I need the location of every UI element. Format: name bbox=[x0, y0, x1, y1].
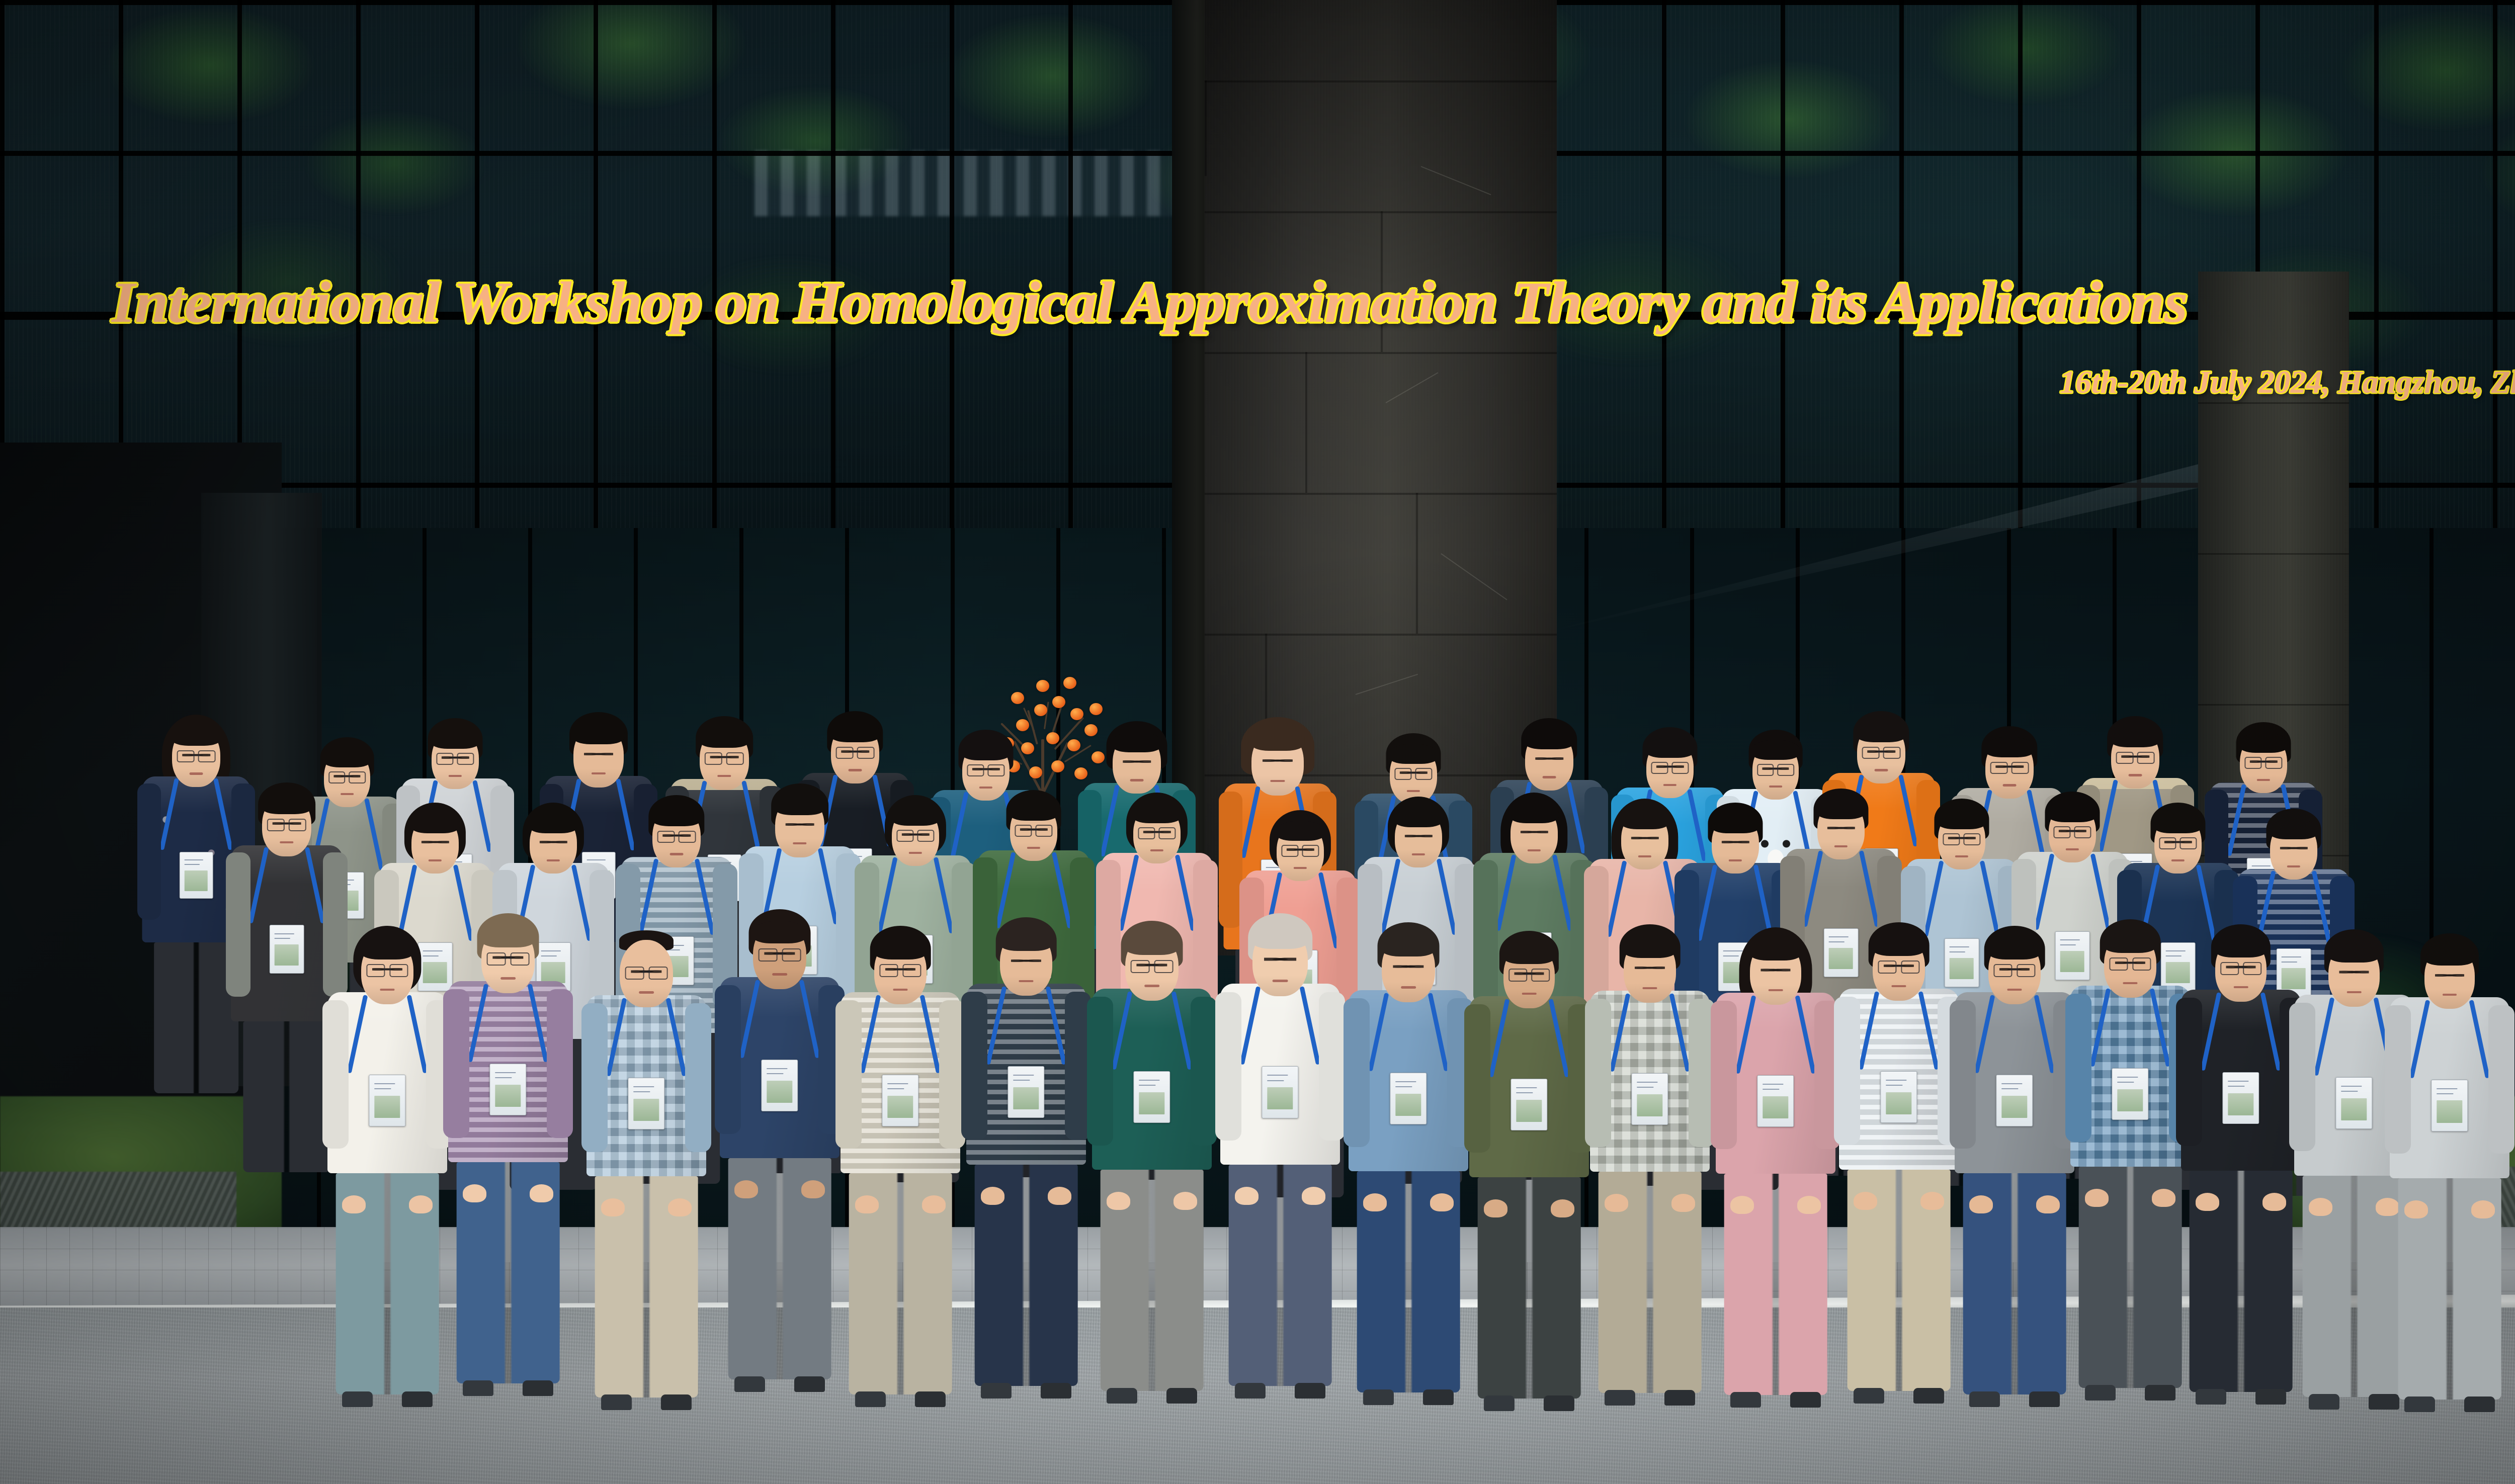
hair-fringe bbox=[2103, 930, 2157, 953]
arm-r bbox=[685, 1003, 711, 1152]
name-badge bbox=[1390, 1073, 1427, 1124]
hand-l bbox=[1235, 1187, 1259, 1205]
mouth bbox=[2066, 848, 2079, 850]
hand-r bbox=[801, 1180, 825, 1198]
hand-r bbox=[922, 1195, 946, 1213]
name-badge bbox=[180, 852, 213, 899]
shoe-r bbox=[2464, 1396, 2495, 1412]
mouth bbox=[2007, 989, 2022, 991]
mouth bbox=[280, 841, 293, 843]
eyes bbox=[1263, 759, 1293, 763]
mouth bbox=[547, 859, 560, 861]
lanyard bbox=[622, 998, 670, 1078]
arm-l bbox=[1585, 999, 1611, 1147]
glasses bbox=[1651, 762, 1689, 772]
hair-fringe bbox=[1251, 925, 1309, 948]
eyes bbox=[786, 823, 814, 826]
arm-l bbox=[581, 1003, 608, 1152]
eyes bbox=[422, 840, 449, 844]
arm-r bbox=[547, 989, 573, 1138]
hair-fringe bbox=[431, 729, 480, 749]
eyes bbox=[2280, 846, 2308, 850]
mouth bbox=[2171, 859, 2185, 861]
hand-l bbox=[1484, 1199, 1508, 1217]
hand-r bbox=[2471, 1200, 2495, 1218]
hand-r bbox=[668, 1198, 692, 1216]
name-badge bbox=[1133, 1071, 1170, 1123]
arm-r bbox=[1191, 997, 1217, 1145]
person bbox=[841, 928, 960, 1380]
lanyard bbox=[2106, 989, 2154, 1068]
name-badge bbox=[2335, 1077, 2372, 1129]
glasses bbox=[177, 750, 216, 761]
lanyard bbox=[2425, 1000, 2473, 1080]
shoe-r bbox=[402, 1391, 433, 1407]
lanyard bbox=[2330, 998, 2378, 1077]
arm-l bbox=[961, 992, 987, 1140]
name-badge bbox=[489, 1064, 526, 1115]
mouth bbox=[1401, 986, 1416, 989]
eyes bbox=[1123, 760, 1151, 763]
lanyard bbox=[175, 778, 218, 851]
shoe-r bbox=[1423, 1389, 1454, 1405]
mouth bbox=[1144, 985, 1159, 987]
arm-l bbox=[1087, 997, 1113, 1145]
mouth bbox=[1528, 849, 1541, 851]
arm-l bbox=[443, 989, 469, 1138]
shoe-l bbox=[1107, 1388, 1138, 1404]
shoe-l bbox=[463, 1380, 494, 1396]
mouth bbox=[1270, 780, 1285, 782]
eyes bbox=[1521, 830, 1548, 834]
hair-fringe bbox=[1749, 938, 1802, 961]
hair-fringe bbox=[2214, 935, 2268, 957]
person bbox=[448, 915, 568, 1368]
hand-l bbox=[1730, 1196, 1754, 1214]
shoe-r bbox=[2029, 1391, 2060, 1407]
shoe-r bbox=[1913, 1388, 1945, 1404]
shoe-l bbox=[734, 1376, 766, 1392]
eyes bbox=[1635, 966, 1665, 970]
arm-l bbox=[2065, 994, 2091, 1142]
hair-fringe bbox=[1394, 807, 1443, 827]
mouth bbox=[1769, 785, 1782, 788]
hand-r bbox=[409, 1195, 433, 1213]
hair-fringe bbox=[1856, 722, 1906, 742]
lanyard bbox=[654, 859, 699, 936]
shoe-r bbox=[1544, 1395, 1575, 1411]
mouth bbox=[849, 769, 862, 771]
mouth bbox=[2257, 779, 2270, 781]
hair-fringe bbox=[1987, 937, 2042, 959]
lanyard bbox=[363, 995, 411, 1075]
hair-fringe bbox=[360, 937, 414, 959]
lanyard bbox=[1819, 851, 1864, 928]
mouth bbox=[772, 973, 787, 976]
mouth bbox=[670, 853, 684, 855]
lanyard bbox=[1128, 992, 1176, 1071]
hair-fringe bbox=[261, 793, 312, 814]
person bbox=[1839, 924, 1959, 1377]
workshop-title: International Workshop on Homological Ap… bbox=[112, 272, 2188, 334]
shoe-r bbox=[1664, 1390, 1696, 1406]
shoe-l bbox=[1605, 1390, 1636, 1406]
hair-fringe bbox=[2239, 733, 2288, 753]
hand-l bbox=[2085, 1189, 2109, 1207]
hand-l bbox=[2404, 1200, 2428, 1218]
mouth bbox=[1027, 847, 1040, 849]
shoe-l bbox=[342, 1391, 373, 1407]
shoe-l bbox=[2309, 1394, 2340, 1410]
glasses bbox=[1757, 764, 1794, 774]
name-badge bbox=[2431, 1080, 2468, 1131]
mouth bbox=[429, 859, 442, 861]
hand-r bbox=[1671, 1194, 1696, 1212]
lanyard bbox=[893, 857, 938, 935]
lanyard bbox=[876, 995, 924, 1075]
mouth bbox=[1273, 980, 1288, 982]
glasses bbox=[1993, 964, 2035, 975]
shoe-l bbox=[2196, 1389, 2227, 1405]
hand-l bbox=[342, 1195, 366, 1213]
mouth bbox=[2003, 784, 2017, 786]
hair-fringe bbox=[873, 937, 928, 959]
name-badge bbox=[2112, 1068, 2148, 1120]
mouth bbox=[449, 775, 462, 777]
hair-fringe bbox=[1132, 803, 1182, 823]
hand-l bbox=[855, 1195, 879, 1213]
shoe-r bbox=[794, 1376, 825, 1392]
person bbox=[1092, 923, 1212, 1375]
hand-r bbox=[1920, 1192, 1945, 1210]
eyes bbox=[1760, 968, 1790, 972]
name-badge bbox=[1996, 1075, 2033, 1126]
name-badge bbox=[270, 925, 304, 974]
glasses bbox=[1862, 747, 1901, 757]
name-badge bbox=[1880, 1071, 1917, 1123]
arm-l bbox=[1711, 1001, 1737, 1149]
shoe-r bbox=[1166, 1388, 1198, 1404]
mouth bbox=[1834, 845, 1848, 847]
hair-fringe bbox=[999, 928, 1053, 951]
arm-l bbox=[226, 852, 250, 997]
person bbox=[1955, 928, 2074, 1380]
hair-fringe bbox=[2327, 940, 2381, 963]
hair-fringe bbox=[2153, 813, 2203, 833]
hair-fringe bbox=[1381, 934, 1436, 957]
glasses bbox=[487, 952, 530, 964]
hair-fringe bbox=[891, 806, 940, 826]
mouth bbox=[1875, 769, 1888, 771]
glasses bbox=[1138, 827, 1176, 837]
hand-l bbox=[601, 1198, 625, 1216]
glasses bbox=[436, 753, 474, 763]
hand-l bbox=[2196, 1193, 2220, 1211]
conference-group-photo: International Workshop on Homological Ap… bbox=[0, 0, 2515, 1484]
workshop-subtitle: 16th-20th July 2024, Hangzhou, Zhejiang bbox=[2060, 365, 2515, 400]
hair-fringe bbox=[1816, 799, 1866, 819]
hair-fringe bbox=[1937, 809, 1986, 829]
eyes bbox=[540, 840, 567, 844]
lanyard bbox=[1751, 996, 1799, 1075]
hair-fringe bbox=[1645, 738, 1695, 758]
lanyard bbox=[756, 980, 803, 1060]
person bbox=[720, 911, 840, 1364]
mouth bbox=[380, 989, 394, 991]
lanyard bbox=[1002, 987, 1050, 1066]
glasses bbox=[328, 771, 366, 781]
shoe-l bbox=[981, 1383, 1012, 1399]
name-badge bbox=[882, 1075, 918, 1126]
mouth bbox=[2123, 982, 2137, 985]
shoe-r bbox=[1790, 1392, 1821, 1408]
arm-l bbox=[1344, 998, 1370, 1147]
glasses bbox=[267, 819, 306, 829]
shoe-l bbox=[1363, 1389, 1394, 1405]
name-badge bbox=[1511, 1079, 1547, 1130]
shoe-l bbox=[1854, 1388, 1885, 1404]
eyes bbox=[1722, 840, 1749, 844]
mouth bbox=[2234, 986, 2248, 989]
arm-l bbox=[1950, 1000, 1976, 1149]
hair-fringe bbox=[410, 813, 460, 833]
hair-fringe bbox=[1620, 809, 1669, 829]
glasses bbox=[879, 964, 921, 975]
hair-fringe bbox=[572, 723, 625, 745]
name-badge bbox=[761, 1060, 798, 1111]
shoe-l bbox=[855, 1391, 886, 1407]
glasses bbox=[967, 764, 1004, 774]
hair-fringe bbox=[1711, 813, 1760, 833]
eyes bbox=[1827, 826, 1855, 830]
shoe-r bbox=[915, 1391, 946, 1407]
hair-fringe bbox=[529, 813, 578, 833]
shoe-r bbox=[1295, 1383, 1326, 1399]
glasses bbox=[2220, 962, 2261, 973]
hand-r bbox=[2036, 1195, 2060, 1213]
lanyard bbox=[1512, 855, 1557, 932]
hand-r bbox=[2152, 1189, 2176, 1207]
mouth bbox=[1638, 855, 1651, 857]
glasses bbox=[2159, 837, 2197, 847]
hair-fringe bbox=[171, 725, 221, 746]
glasses bbox=[366, 964, 408, 975]
lanyard bbox=[265, 847, 309, 925]
mouth bbox=[1294, 867, 1307, 869]
glasses bbox=[896, 830, 934, 840]
name-badge bbox=[628, 1078, 664, 1129]
hair-fringe bbox=[961, 740, 1011, 760]
name-badge bbox=[1757, 1075, 1794, 1127]
lanyard bbox=[1256, 987, 1304, 1066]
hair-fringe bbox=[1872, 933, 1926, 956]
glasses bbox=[1878, 961, 1919, 972]
arm-l bbox=[1834, 997, 1860, 1145]
hair-fringe bbox=[2110, 727, 2160, 747]
glasses bbox=[1394, 768, 1432, 778]
hand-l bbox=[1107, 1192, 1131, 1210]
hand-l bbox=[1605, 1194, 1629, 1212]
hair-fringe bbox=[1510, 803, 1559, 823]
hand-l bbox=[2309, 1198, 2333, 1216]
lanyard bbox=[484, 984, 532, 1064]
hand-r bbox=[2262, 1193, 2287, 1211]
glasses bbox=[1015, 825, 1052, 835]
eyes bbox=[1631, 836, 1659, 840]
hair-fringe bbox=[1112, 732, 1162, 752]
mouth bbox=[1522, 993, 1537, 995]
arm-l bbox=[2289, 1003, 2315, 1151]
hair-fringe bbox=[1009, 801, 1058, 821]
glasses bbox=[2116, 752, 2155, 762]
shoe-r bbox=[2255, 1389, 2287, 1405]
mouth bbox=[979, 787, 992, 789]
shoe-l bbox=[1235, 1383, 1266, 1399]
person bbox=[1349, 924, 1468, 1377]
hair-fringe bbox=[830, 722, 880, 742]
glasses bbox=[625, 967, 668, 978]
shoe-r bbox=[523, 1380, 554, 1396]
hair-fringe bbox=[774, 794, 825, 815]
mouth bbox=[717, 775, 731, 777]
name-badge bbox=[2222, 1072, 2259, 1124]
shoe-r bbox=[2145, 1385, 2176, 1401]
person bbox=[1716, 929, 1835, 1382]
name-badge bbox=[1262, 1066, 1298, 1118]
hand-l bbox=[1854, 1192, 1878, 1210]
shoe-l bbox=[2404, 1396, 2436, 1412]
shoe-l bbox=[1969, 1391, 2000, 1407]
lanyard bbox=[1384, 993, 1432, 1073]
hand-l bbox=[1969, 1195, 1993, 1213]
eyes bbox=[1393, 965, 1423, 969]
hair-fringe bbox=[699, 727, 750, 748]
hair-fringe bbox=[1389, 744, 1438, 764]
person bbox=[2070, 921, 2190, 1374]
hair-fringe bbox=[2269, 819, 2318, 839]
arm-l bbox=[2385, 1005, 2411, 1154]
hair-fringe bbox=[1623, 935, 1677, 958]
person bbox=[586, 929, 706, 1382]
arm-r bbox=[2488, 1005, 2514, 1154]
name-badge bbox=[1008, 1066, 1044, 1118]
mouth bbox=[1150, 849, 1163, 851]
glasses bbox=[705, 752, 744, 763]
mouth bbox=[1407, 790, 1420, 792]
lanyard bbox=[1990, 995, 2038, 1075]
hand-r bbox=[1430, 1193, 1454, 1211]
mouth bbox=[1769, 989, 1783, 992]
hair-fringe bbox=[480, 925, 536, 948]
glasses bbox=[2244, 757, 2282, 767]
shoe-l bbox=[1730, 1392, 1762, 1408]
hand-r bbox=[1048, 1187, 1072, 1205]
eyes bbox=[584, 752, 613, 756]
eyes bbox=[1011, 959, 1041, 963]
hand-l bbox=[734, 1180, 759, 1198]
mouth bbox=[500, 977, 516, 980]
name-badge bbox=[369, 1075, 405, 1126]
person bbox=[1469, 933, 1589, 1385]
glasses bbox=[759, 948, 801, 960]
hand-r bbox=[1551, 1199, 1575, 1217]
hair-fringe bbox=[2048, 802, 2097, 822]
eyes bbox=[1405, 834, 1433, 838]
hair-fringe bbox=[1984, 737, 2035, 757]
person bbox=[2390, 935, 2509, 1388]
hair-fringe bbox=[1524, 729, 1574, 749]
eyes bbox=[2339, 970, 2369, 974]
glasses bbox=[2109, 957, 2151, 969]
shoe-l bbox=[1484, 1395, 1515, 1411]
name-badge bbox=[1631, 1073, 1668, 1125]
shoe-r bbox=[2369, 1394, 2400, 1410]
glasses bbox=[657, 831, 696, 841]
mouth bbox=[1955, 855, 1968, 857]
mouth bbox=[2287, 865, 2300, 867]
mouth bbox=[1729, 859, 1742, 861]
lanyard bbox=[2217, 993, 2265, 1072]
mouth bbox=[2129, 774, 2142, 776]
shoe-l bbox=[2085, 1385, 2116, 1401]
shoe-r bbox=[1041, 1383, 1072, 1399]
mouth bbox=[1663, 784, 1676, 786]
mouth bbox=[1130, 779, 1144, 781]
hair-fringe bbox=[1124, 932, 1180, 955]
mouth bbox=[2347, 991, 2362, 994]
arm-l bbox=[2176, 998, 2202, 1146]
legs bbox=[243, 1021, 330, 1172]
glasses bbox=[1943, 833, 1980, 843]
mouth bbox=[909, 852, 922, 854]
eyes bbox=[1264, 957, 1296, 961]
arm-l bbox=[1464, 1004, 1490, 1153]
hair-fringe bbox=[1250, 728, 1305, 751]
mouth bbox=[639, 991, 654, 994]
glasses bbox=[2053, 826, 2091, 836]
mouth bbox=[893, 989, 907, 991]
arm-l bbox=[137, 783, 161, 920]
person bbox=[2181, 926, 2301, 1379]
mouth bbox=[1543, 776, 1556, 778]
hair-fringe bbox=[1276, 821, 1325, 841]
lanyard bbox=[1875, 992, 1922, 1071]
eyes bbox=[2435, 974, 2464, 978]
hand-l bbox=[463, 1184, 487, 1202]
mouth bbox=[2443, 994, 2457, 996]
person bbox=[1220, 915, 1340, 1368]
hand-l bbox=[1363, 1193, 1387, 1211]
hand-r bbox=[1302, 1187, 1326, 1205]
glasses bbox=[1131, 960, 1173, 972]
person bbox=[966, 919, 1086, 1372]
glasses bbox=[1281, 845, 1319, 855]
mouth bbox=[1891, 985, 1906, 988]
hand-r bbox=[1797, 1196, 1821, 1214]
arm-l bbox=[715, 985, 741, 1133]
arm-r bbox=[1319, 992, 1345, 1141]
hair-fringe bbox=[1751, 740, 1800, 759]
glasses bbox=[1990, 762, 2029, 772]
hair-fringe bbox=[2423, 944, 2476, 966]
mouth bbox=[190, 772, 203, 774]
arm-l bbox=[322, 1000, 349, 1149]
mouth bbox=[793, 842, 806, 844]
mouth bbox=[1019, 980, 1033, 983]
mouth bbox=[592, 772, 606, 774]
arm-l bbox=[1215, 992, 1241, 1141]
hand-r bbox=[530, 1184, 554, 1202]
